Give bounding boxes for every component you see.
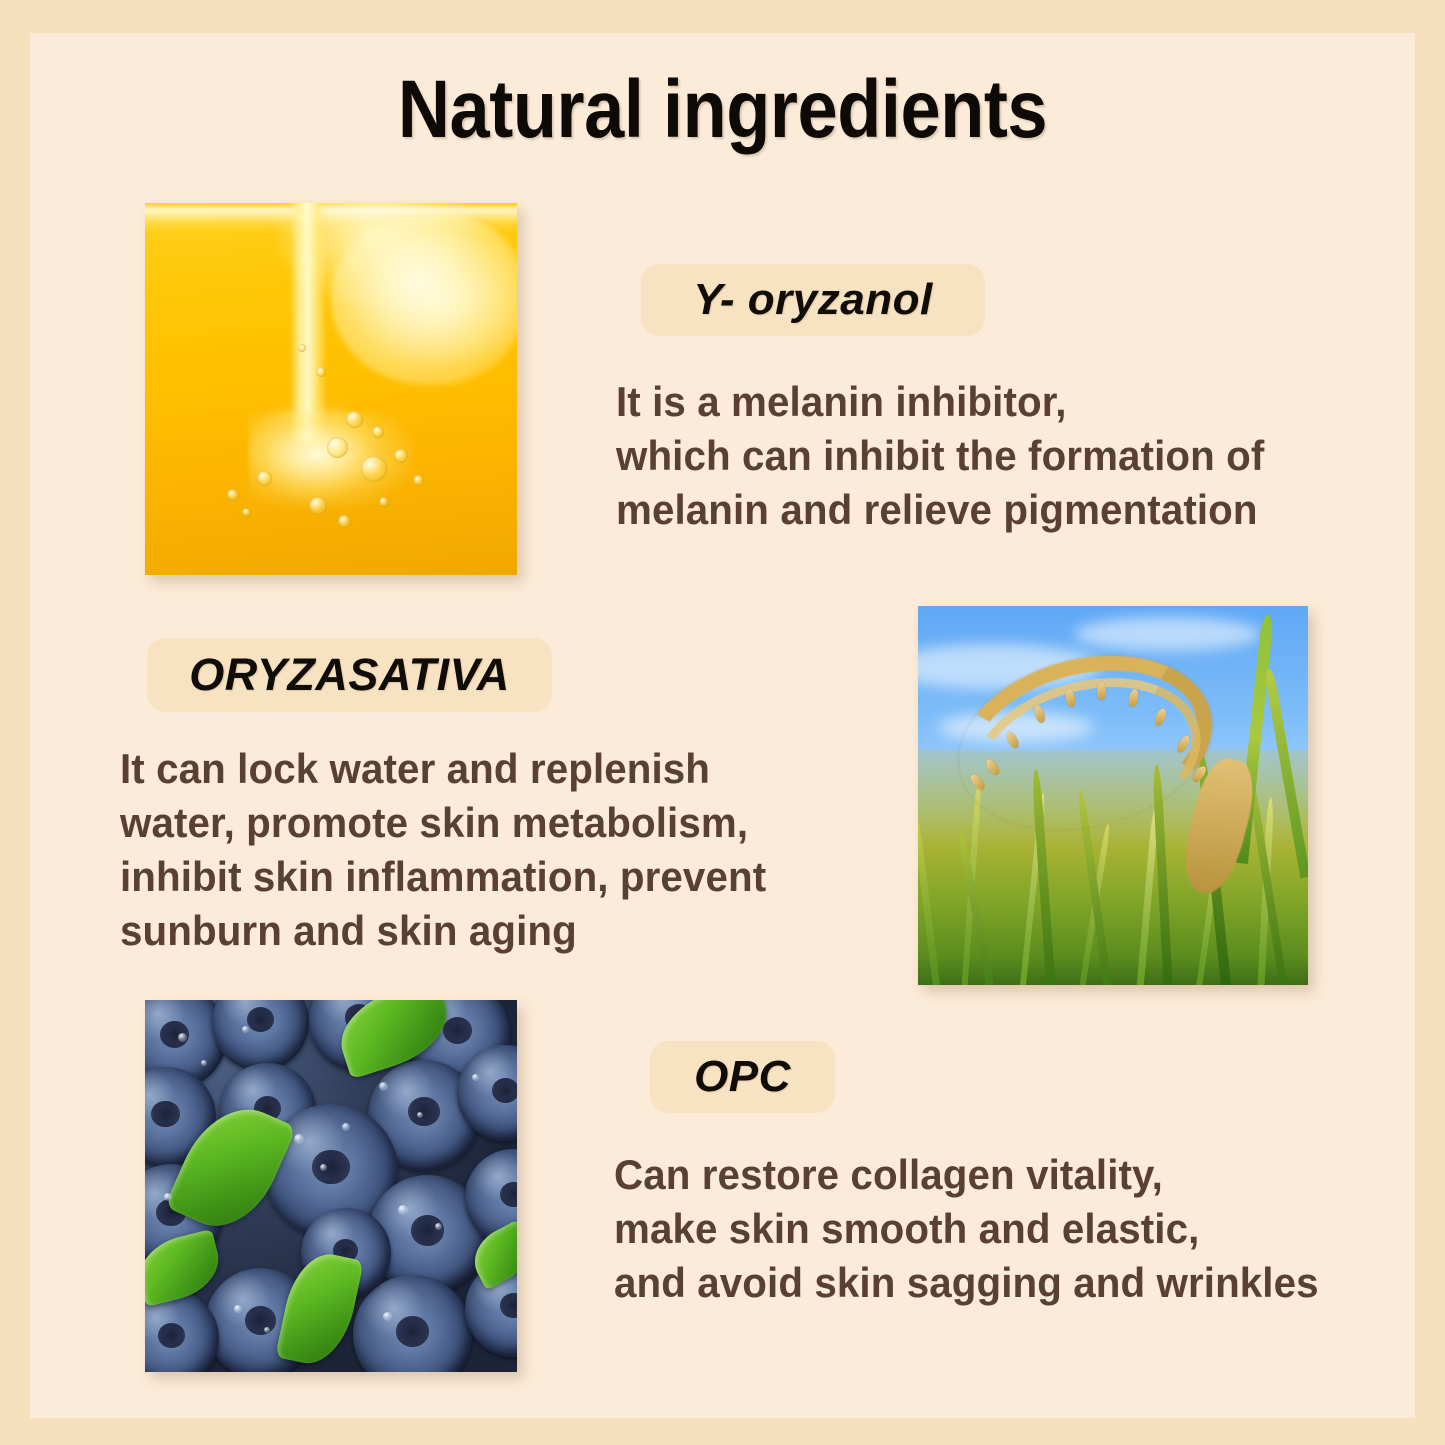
badge-oryzasativa: ORYZASATIVA <box>147 638 552 712</box>
description-line: sunburn and skin aging <box>120 904 766 958</box>
water-droplet <box>201 1060 207 1066</box>
description-line: Can restore collagen vitality, <box>614 1148 1319 1202</box>
description-oryzasativa: It can lock water and replenish water, p… <box>120 742 766 958</box>
water-droplet <box>320 1164 327 1171</box>
water-droplet <box>294 1134 304 1144</box>
oil-bubble <box>309 497 327 515</box>
oil-bubble <box>372 426 384 438</box>
description-line: inhibit skin inflammation, prevent <box>120 850 766 904</box>
badge-opc-label: OPC <box>694 1052 791 1102</box>
description-line: and avoid skin sagging and wrinkles <box>614 1256 1319 1310</box>
oil-bubble <box>413 475 424 486</box>
golden-oil-pour-photo <box>145 203 517 575</box>
oil-splash <box>249 411 413 508</box>
oil-photo-base <box>145 203 517 575</box>
blueberries-photo <box>145 1000 517 1372</box>
badge-opc: OPC <box>650 1041 835 1113</box>
oil-stream <box>290 203 327 441</box>
description-oryzanol: It is a melanin inhibitor, which can inh… <box>616 375 1264 537</box>
grass-blade <box>918 812 941 985</box>
oil-highlight-blob <box>331 214 517 385</box>
badge-oryzanol-label: Y- oryzanol <box>693 275 932 325</box>
description-line: It can lock water and replenish <box>120 742 766 796</box>
water-droplet <box>342 1123 350 1131</box>
description-opc: Can restore collagen vitality, make skin… <box>614 1148 1319 1310</box>
rice-photo-sky <box>918 606 1308 985</box>
description-line: make skin smooth and elastic, <box>614 1202 1319 1256</box>
badge-oryzanol: Y- oryzanol <box>641 264 985 336</box>
water-droplet <box>242 1026 249 1033</box>
oil-bubble <box>394 449 408 463</box>
page-title: Natural ingredients <box>87 62 1359 158</box>
oil-bubble <box>361 456 387 482</box>
oil-bubble <box>338 515 351 528</box>
oil-bubble <box>227 489 239 501</box>
water-droplet <box>417 1112 423 1118</box>
oil-bubble <box>257 471 272 486</box>
blueberry-photo-base <box>145 1000 517 1372</box>
ingredients-poster: Natural ingredients Y- oryzanol It <box>0 0 1445 1445</box>
description-line: melanin and relieve pigmentation <box>616 483 1264 537</box>
oil-bubble <box>298 344 306 352</box>
cloud <box>1074 617 1261 651</box>
description-line: water, promote skin metabolism, <box>120 796 766 850</box>
oil-bubble <box>316 367 326 377</box>
badge-oryzasativa-label: ORYZASATIVA <box>189 649 510 701</box>
oil-bubble <box>242 508 251 517</box>
rice-field-photo <box>918 606 1308 985</box>
water-droplet <box>398 1205 408 1215</box>
description-line: It is a melanin inhibitor, <box>616 375 1264 429</box>
description-line: which can inhibit the formation of <box>616 429 1264 483</box>
